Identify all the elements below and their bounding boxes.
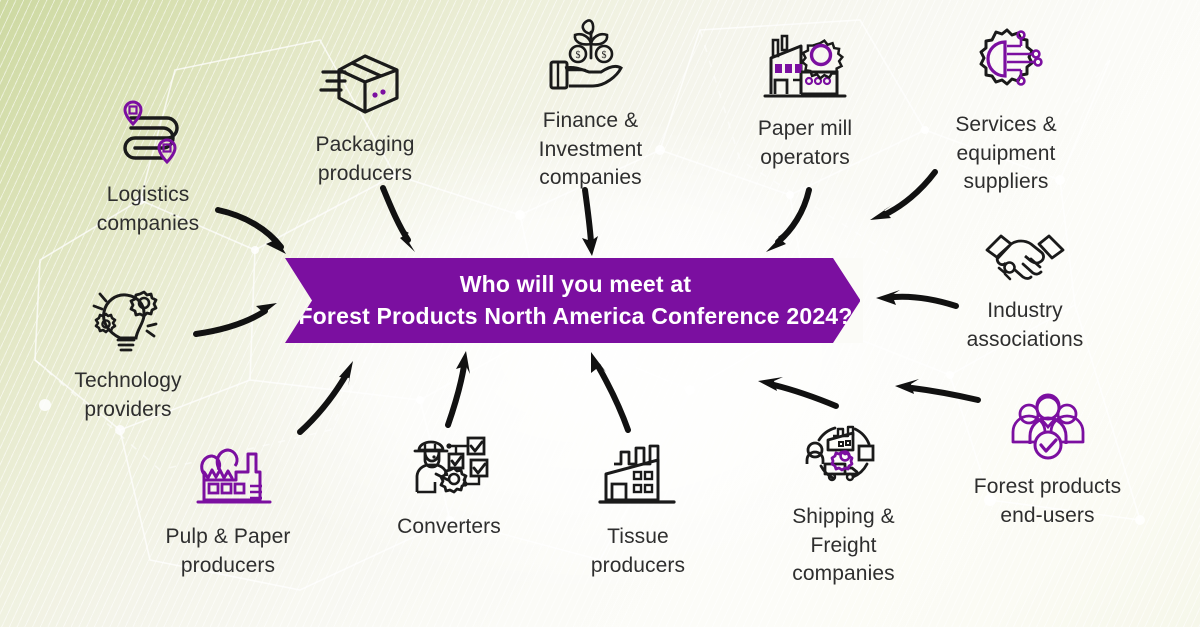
gear-circuit-icon: [920, 26, 1092, 105]
people-verified-icon: [955, 392, 1140, 467]
node-label: Industry associations: [967, 299, 1084, 351]
node-label: Paper mill operators: [758, 117, 852, 169]
handshake-icon: [935, 228, 1115, 291]
node-packaging-producers: Packaging producers: [275, 48, 455, 188]
node-label: Technology providers: [74, 369, 181, 421]
arrow-paper-mill: [766, 190, 809, 252]
node-services-equipment: Services & equipment suppliers: [920, 26, 1092, 197]
svg-text:$: $: [601, 50, 606, 61]
hand-plant-coins-icon: $ $: [503, 18, 678, 101]
node-forest-products-endusers: Forest products end-users: [955, 392, 1140, 530]
supply-chain-cycle-icon: [756, 416, 931, 497]
node-label: Packaging producers: [316, 133, 415, 185]
lightbulb-gears-icon: [38, 284, 218, 361]
arrow-converters: [448, 351, 470, 425]
node-label: Logistics companies: [97, 183, 199, 235]
arrow-pulp-paper: [300, 361, 353, 432]
paper-mill-gear-icon: [715, 28, 895, 109]
infographic-canvas: Logistics companies Packaging producers: [0, 0, 1200, 627]
node-label: Shipping & Freight companies: [792, 505, 895, 585]
banner-text: Who will you meet at Forest Products Nor…: [285, 269, 860, 332]
arrow-finance: [582, 190, 598, 256]
route-map-pins-icon: [58, 96, 238, 175]
node-pulp-paper-producers: Pulp & Paper producers: [138, 440, 318, 580]
parcel-box-icon: [275, 48, 455, 125]
node-tissue-producers: Tissue producers: [548, 440, 728, 580]
node-label: Tissue producers: [591, 525, 685, 577]
node-label: Forest products end-users: [974, 475, 1121, 527]
node-converters: Converters: [359, 430, 539, 542]
node-label: Services & equipment suppliers: [955, 113, 1056, 193]
node-label: Pulp & Paper producers: [166, 525, 291, 577]
svg-text:$: $: [575, 50, 580, 61]
node-shipping-freight: Shipping & Freight companies: [756, 416, 931, 589]
node-technology-providers: Technology providers: [38, 284, 218, 424]
node-logistics-companies: Logistics companies: [58, 96, 238, 238]
pulp-mill-icon: [138, 440, 318, 517]
node-paper-mill-operators: Paper mill operators: [715, 28, 895, 172]
node-label: Finance & Investment companies: [539, 109, 643, 189]
node-finance-investment: $ $ Finance & Investment companies: [503, 18, 678, 193]
worker-checklist-gear-icon: [359, 430, 539, 507]
arrow-tissue: [591, 352, 628, 430]
node-label: Converters: [397, 515, 501, 538]
arrow-shipping: [758, 377, 836, 406]
central-question-banner: Who will you meet at Forest Products Nor…: [285, 258, 860, 343]
factory-icon: [548, 440, 728, 517]
node-industry-associations: Industry associations: [935, 228, 1115, 354]
arrow-packaging: [383, 188, 415, 252]
